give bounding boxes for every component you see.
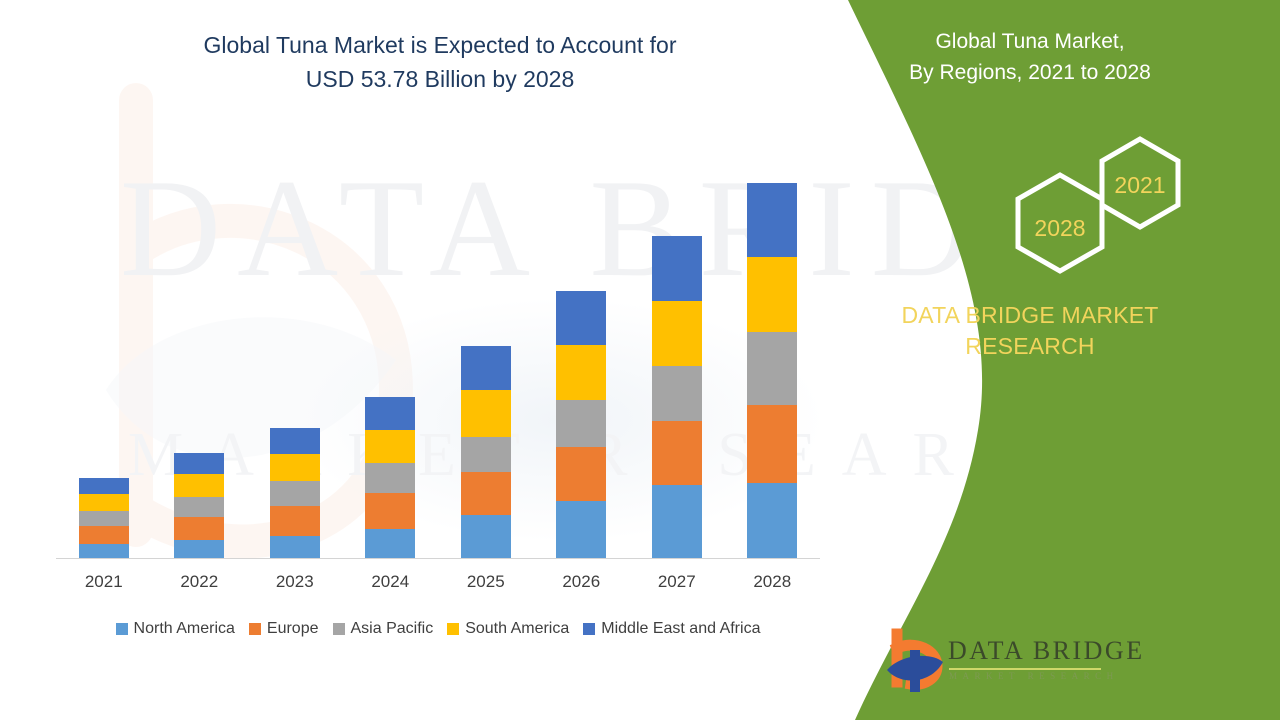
data-bridge-logo: DATA BRIDGE MARKET RESEARCH — [885, 628, 1115, 708]
bar-segment-asia-pacific[interactable] — [270, 481, 320, 506]
x-tick-2026: 2026 — [546, 572, 616, 592]
x-tick-2024: 2024 — [355, 572, 425, 592]
bar-segment-europe[interactable] — [174, 517, 224, 540]
legend-label: Asia Pacific — [351, 620, 434, 638]
x-tick-2025: 2025 — [451, 572, 521, 592]
bar-segment-asia-pacific[interactable] — [652, 366, 702, 422]
legend-label: Middle East and Africa — [601, 620, 760, 638]
bar-segment-south-america[interactable] — [270, 454, 320, 481]
bar-2023[interactable] — [270, 428, 320, 558]
bar-segment-asia-pacific[interactable] — [174, 497, 224, 517]
legend-swatch-icon — [116, 623, 128, 635]
legend-item-south-america[interactable]: South America — [447, 620, 569, 638]
logo-mark-icon — [885, 628, 947, 698]
x-axis-line — [56, 558, 820, 559]
chart-legend: North AmericaEuropeAsia PacificSouth Ame… — [56, 617, 820, 641]
bar-2024[interactable] — [365, 397, 415, 558]
bar-segment-north-america[interactable] — [747, 483, 797, 558]
x-tick-2027: 2027 — [642, 572, 712, 592]
legend-label: North America — [134, 620, 235, 638]
bar-segment-middle-east-and-africa[interactable] — [652, 236, 702, 302]
x-axis-tick-labels: 20212022202320242025202620272028 — [56, 572, 820, 602]
bar-segment-europe[interactable] — [747, 405, 797, 482]
infographic-canvas: DATA BRIDGE MARKET RESEARCH Global Tuna … — [0, 0, 1280, 720]
legend-label: South America — [465, 620, 569, 638]
bar-segment-europe[interactable] — [461, 472, 511, 515]
legend-item-europe[interactable]: Europe — [249, 620, 319, 638]
bar-segment-south-america[interactable] — [652, 301, 702, 365]
legend-item-north-america[interactable]: North America — [116, 620, 235, 638]
bar-segment-north-america[interactable] — [79, 544, 129, 558]
bar-segment-south-america[interactable] — [747, 257, 797, 332]
legend-swatch-icon — [333, 623, 345, 635]
x-tick-2022: 2022 — [164, 572, 234, 592]
bar-2028[interactable] — [747, 183, 797, 558]
legend-label: Europe — [267, 620, 319, 638]
logo-divider — [949, 668, 1101, 670]
bar-segment-south-america[interactable] — [79, 494, 129, 511]
bar-segment-middle-east-and-africa[interactable] — [747, 183, 797, 257]
bar-segment-north-america[interactable] — [652, 485, 702, 558]
legend-item-asia-pacific[interactable]: Asia Pacific — [333, 620, 434, 638]
bar-segment-asia-pacific[interactable] — [747, 332, 797, 405]
bar-segment-europe[interactable] — [365, 493, 415, 529]
bar-segment-middle-east-and-africa[interactable] — [174, 453, 224, 474]
legend-item-middle-east-and-africa[interactable]: Middle East and Africa — [583, 620, 760, 638]
bar-2027[interactable] — [652, 236, 702, 558]
bar-segment-south-america[interactable] — [556, 345, 606, 400]
bar-segment-middle-east-and-africa[interactable] — [79, 478, 129, 494]
x-tick-2023: 2023 — [260, 572, 330, 592]
bar-segment-north-america[interactable] — [365, 529, 415, 558]
bar-segment-europe[interactable] — [270, 506, 320, 535]
bar-segment-asia-pacific[interactable] — [79, 511, 129, 526]
bar-segment-north-america[interactable] — [556, 501, 606, 558]
bar-segment-north-america[interactable] — [174, 540, 224, 558]
bar-segment-europe[interactable] — [652, 421, 702, 485]
x-tick-2028: 2028 — [737, 572, 807, 592]
stacked-bar-chart: 20212022202320242025202620272028 North A… — [0, 0, 860, 720]
logo-subtitle: MARKET RESEARCH — [949, 671, 1119, 681]
legend-swatch-icon — [583, 623, 595, 635]
x-tick-2021: 2021 — [69, 572, 139, 592]
logo-wordmark: DATA BRIDGE — [948, 636, 1145, 666]
bar-segment-europe[interactable] — [79, 526, 129, 544]
bar-segment-middle-east-and-africa[interactable] — [556, 291, 606, 345]
plot-area — [56, 160, 820, 558]
green-panel-shape — [810, 0, 1280, 720]
bar-segment-europe[interactable] — [556, 447, 606, 501]
bar-segment-middle-east-and-africa[interactable] — [365, 397, 415, 430]
bar-2022[interactable] — [174, 453, 224, 558]
legend-swatch-icon — [447, 623, 459, 635]
bar-segment-middle-east-and-africa[interactable] — [270, 428, 320, 454]
bar-segment-north-america[interactable] — [461, 515, 511, 558]
bar-segment-south-america[interactable] — [174, 474, 224, 497]
bar-2025[interactable] — [461, 346, 511, 558]
bar-2026[interactable] — [556, 291, 606, 558]
legend-swatch-icon — [249, 623, 261, 635]
bar-segment-asia-pacific[interactable] — [365, 463, 415, 493]
bar-segment-south-america[interactable] — [461, 390, 511, 437]
bar-segment-asia-pacific[interactable] — [556, 400, 606, 447]
bar-segment-middle-east-and-africa[interactable] — [461, 346, 511, 390]
bar-segment-north-america[interactable] — [270, 536, 320, 558]
bar-2021[interactable] — [79, 478, 129, 558]
bar-segment-asia-pacific[interactable] — [461, 437, 511, 472]
bar-segment-south-america[interactable] — [365, 430, 415, 463]
